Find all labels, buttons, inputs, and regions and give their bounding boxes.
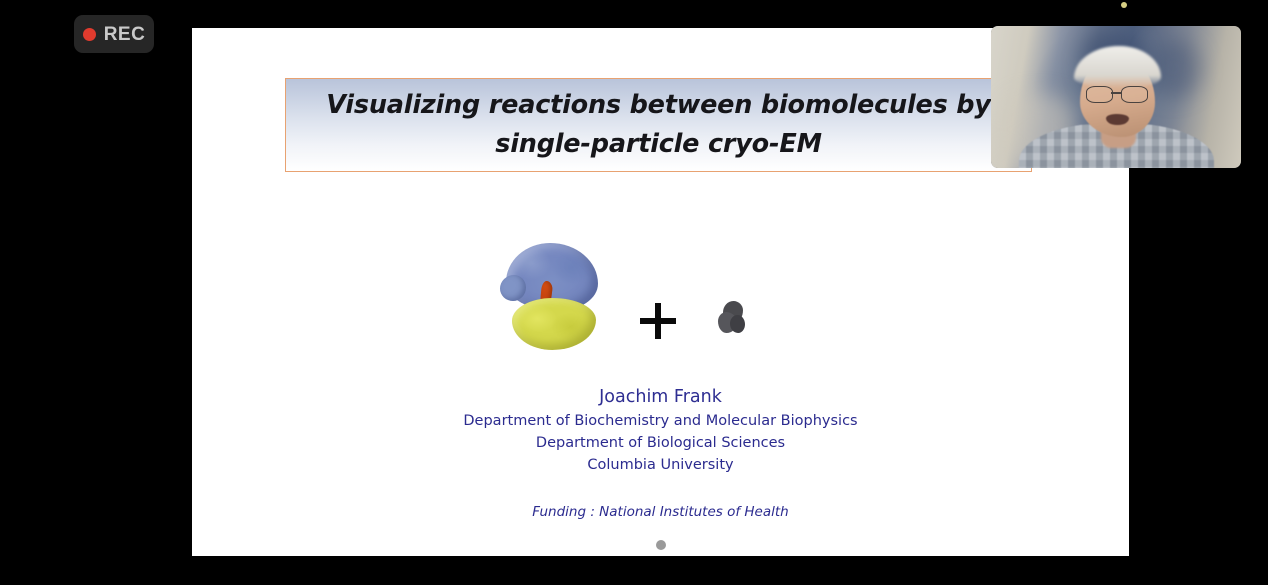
ribosome-small-subunit xyxy=(512,298,596,350)
affiliation-line-3: Columbia University xyxy=(192,454,1129,476)
affiliation-line-2: Department of Biological Sciences xyxy=(192,432,1129,454)
ligand-blob-image xyxy=(718,301,746,335)
author-name: Joachim Frank xyxy=(192,386,1129,410)
affiliation-line-1: Department of Biochemistry and Molecular… xyxy=(192,410,1129,432)
presenter-video-feed[interactable] xyxy=(991,26,1241,168)
funding-line: Funding : National Institutes of Health xyxy=(192,504,1129,520)
record-dot-icon xyxy=(83,28,96,41)
ribosome-complex-image xyxy=(502,243,604,353)
ligand-lobe-right xyxy=(730,315,745,333)
reaction-graphic xyxy=(192,233,1129,353)
recording-label: REC xyxy=(104,25,146,44)
slide-title: Visualizing reactions between biomolecul… xyxy=(286,86,1031,164)
author-block: Joachim Frank Department of Biochemistry… xyxy=(192,386,1129,520)
presentation-slide[interactable]: Visualizing reactions between biomolecul… xyxy=(192,28,1129,556)
slide-title-box: Visualizing reactions between biomolecul… xyxy=(285,78,1032,172)
eyeglasses-right-lens-icon xyxy=(1121,86,1148,104)
ribosome-stalk-lobe xyxy=(500,275,526,301)
recording-badge[interactable]: REC xyxy=(74,15,154,53)
slide-page-indicator[interactable] xyxy=(656,540,666,550)
status-indicator-dot xyxy=(1121,2,1127,8)
plus-operator-icon xyxy=(640,303,676,339)
screen-share-stage: REC Visualizing reactions between biomol… xyxy=(0,0,1268,585)
eyeglasses-left-lens-icon xyxy=(1086,86,1113,104)
eyeglasses-bridge-icon xyxy=(1111,92,1121,94)
